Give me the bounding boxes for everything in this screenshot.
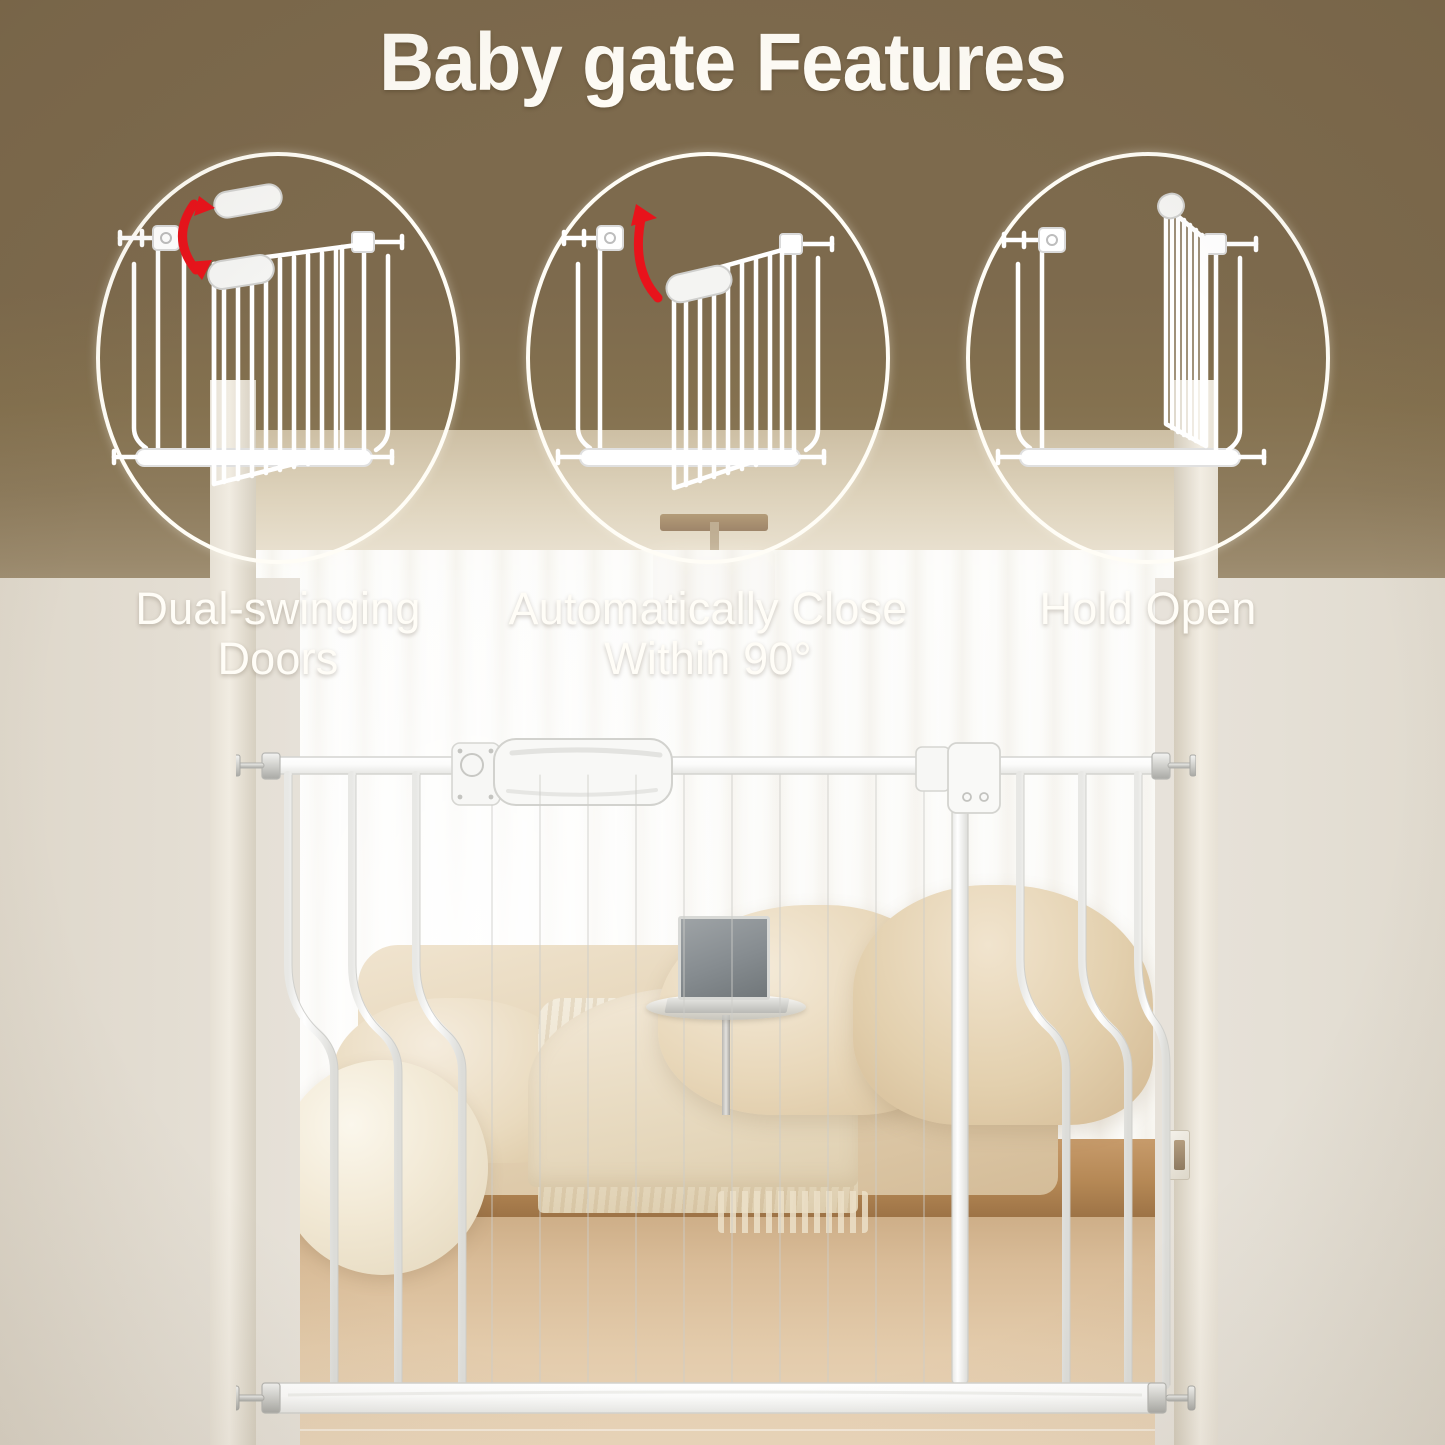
feature-dual-swinging-doors: Dual-swinging Doors [78, 152, 478, 712]
pressure-bolt-top-right[interactable] [1152, 753, 1196, 779]
door-panel-bars-outline [492, 775, 924, 1385]
caption-line-1: Dual-swinging [62, 584, 494, 634]
caption-line-1: Automatically Close [492, 584, 924, 634]
feature-caption: Dual-swinging Doors [62, 584, 494, 685]
illustration-hold-open [966, 152, 1330, 564]
illustration-automatically-close [526, 152, 890, 564]
feature-hold-open: Hold Open [948, 152, 1348, 712]
feature-row: Dual-swinging Doors [0, 152, 1445, 712]
pressure-bolt-top-left[interactable] [236, 753, 280, 779]
feature-caption: Hold Open [932, 584, 1364, 634]
feature-automatically-close: Automatically Close Within 90° [508, 152, 908, 712]
arrow-head-up [194, 196, 215, 216]
baby-gate-render [236, 735, 1196, 1445]
feature-caption: Automatically Close Within 90° [492, 584, 924, 685]
caption-line-2: Within 90° [492, 634, 924, 684]
auto-close-arrow-icon [638, 214, 658, 298]
latch-button-housing[interactable] [452, 743, 500, 805]
latch-handle-icon [1155, 190, 1188, 221]
extension-bars-right-outline [1024, 775, 1170, 1385]
hinge-housing[interactable] [916, 743, 1000, 813]
bottom-rail [264, 1383, 1164, 1413]
door-panel-bars [488, 775, 920, 1385]
pressure-bolt-bottom-left[interactable] [236, 1383, 280, 1413]
dual-swing-arrow-icon [182, 204, 196, 270]
extension-bars-left [288, 775, 462, 1385]
caption-line-1: Hold Open [932, 584, 1364, 634]
main-baby-gate [236, 735, 1196, 1445]
hinge-post [952, 765, 968, 1385]
illustration-dual-swinging-doors [96, 152, 460, 564]
pressure-bolt-bottom-right[interactable] [1148, 1383, 1195, 1413]
extension-bars-left-outline [292, 775, 466, 1385]
extension-bars-right [1020, 775, 1166, 1385]
product-feature-graphic: Baby gate Features [0, 0, 1445, 1445]
top-rail [264, 757, 1164, 774]
latch-handle-icon [664, 263, 735, 305]
caption-line-2: Doors [62, 634, 494, 684]
page-title: Baby gate Features [51, 20, 1395, 106]
latch-handle-ghost-icon [212, 182, 283, 219]
